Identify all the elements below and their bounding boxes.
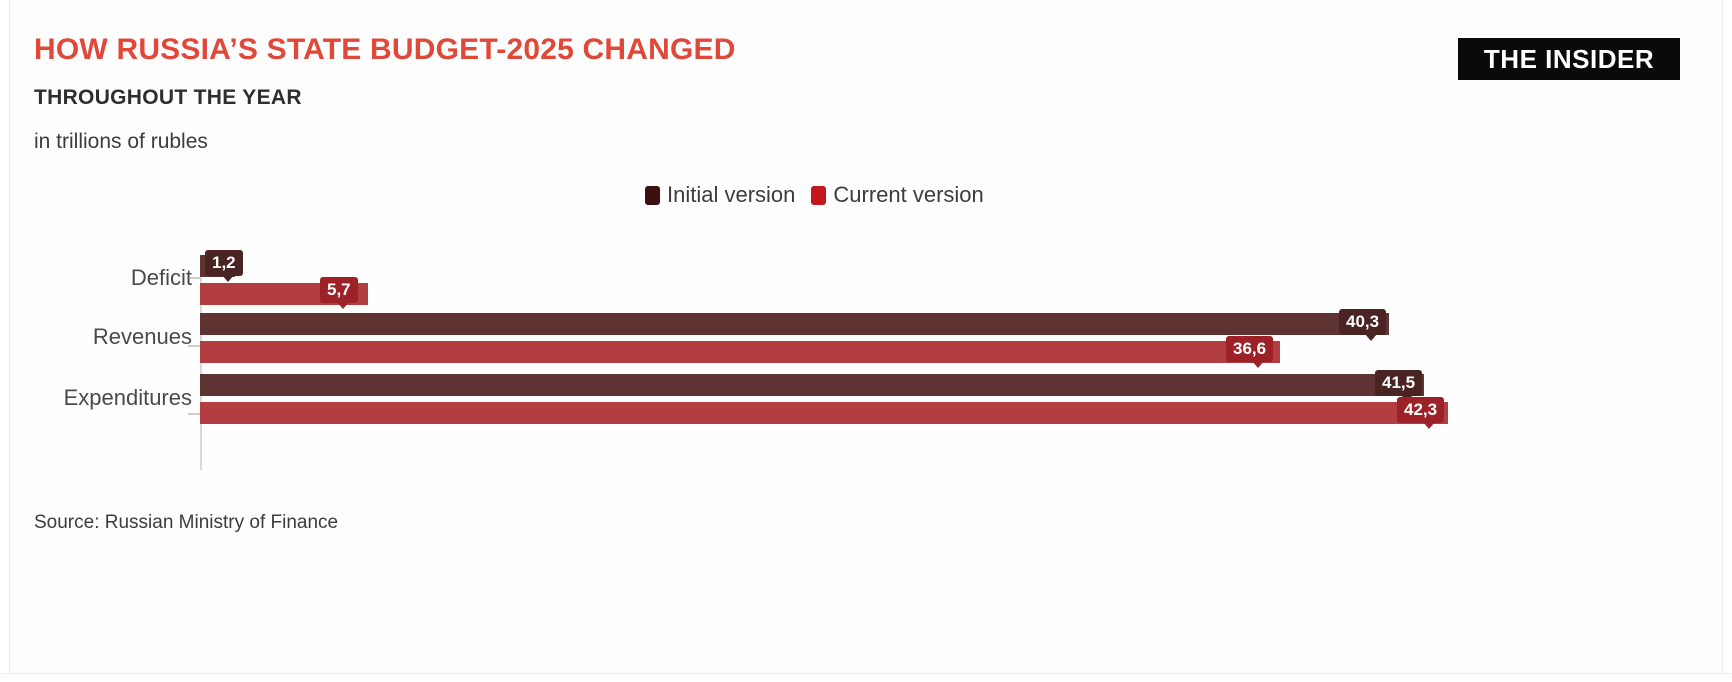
value-label-current-deficit: 5,7	[320, 277, 358, 303]
category-label-deficit: Deficit	[131, 265, 192, 291]
infographic-page: HOW RUSSIA’S STATE BUDGET-2025 CHANGED T…	[0, 0, 1732, 682]
bar-initial-revenues[interactable]	[200, 313, 1389, 335]
value-label-current-expenditures: 42,3	[1397, 397, 1444, 423]
bar-current-revenues[interactable]	[200, 341, 1280, 363]
category-label-expenditures: Expenditures	[64, 385, 192, 411]
bar-chart-plot: Deficit 1,2 5,7 Revenues 40,3 36,6 Expen…	[0, 0, 1732, 682]
bar-initial-expenditures[interactable]	[200, 374, 1424, 396]
axis-tick-expenditures	[188, 413, 200, 415]
value-label-initial-deficit: 1,2	[205, 250, 243, 276]
category-label-revenues: Revenues	[93, 324, 192, 350]
value-label-initial-expenditures: 41,5	[1375, 370, 1422, 396]
value-label-current-revenues: 36,6	[1226, 336, 1273, 362]
value-label-initial-revenues: 40,3	[1339, 309, 1386, 335]
bar-current-expenditures[interactable]	[200, 402, 1448, 424]
source-caption: Source: Russian Ministry of Finance	[34, 512, 338, 534]
